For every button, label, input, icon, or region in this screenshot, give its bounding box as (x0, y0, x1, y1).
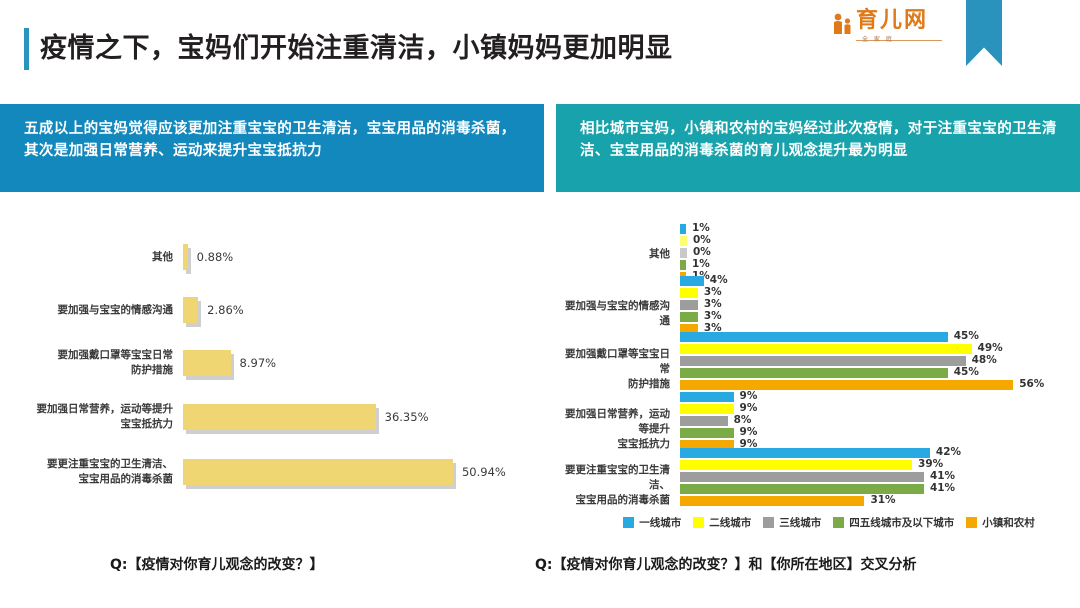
bar-value-label: 3% (704, 310, 722, 322)
category-label: 其他 (556, 247, 670, 262)
legend-swatch-icon (833, 517, 844, 528)
legend-swatch-icon (693, 517, 704, 528)
bar (680, 472, 924, 482)
category-label: 要更注重宝宝的卫生清洁、宝宝用品的消毒杀菌 (0, 457, 173, 487)
bar-value-label: 8.97% (240, 356, 277, 370)
bar (680, 248, 687, 258)
bar (680, 460, 912, 470)
bar (680, 276, 704, 286)
title-accent-bar (24, 28, 29, 70)
bar-value-label: 41% (930, 482, 955, 494)
legend-item[interactable]: 四五线城市及以下城市 (833, 515, 954, 530)
bar-value-label: 36.35% (385, 410, 429, 424)
bar-value-label: 41% (930, 470, 955, 482)
callout-right-text: 相比城市宝妈，小镇和农村的宝妈经过此次疫情，对于注重宝宝的卫生清洁、宝宝用品的消… (580, 118, 1060, 162)
bar (680, 332, 948, 342)
category-label: 要加强日常营养，运动等提升宝宝抵抗力 (556, 407, 670, 452)
legend-item[interactable]: 小镇和农村 (966, 515, 1035, 530)
bar-value-label: 1% (692, 258, 710, 270)
bar (183, 297, 198, 323)
caption-right: Q:【疫情对你育儿观念的改变？】和【你所在地区】交叉分析 (535, 554, 917, 574)
right-grouped-bar-chart: 一线城市二线城市三线城市四五线城市及以下城市小镇和农村 1%0%0%1%1%其他… (556, 212, 1080, 537)
chart-legend: 一线城市二线城市三线城市四五线城市及以下城市小镇和农村 (594, 512, 1064, 532)
legend-swatch-icon (763, 517, 774, 528)
bar-value-label: 45% (954, 366, 979, 378)
legend-label: 一线城市 (639, 515, 681, 530)
slide-header: 疫情之下，宝妈们开始注重清洁，小镇妈妈更加明显 育儿网 全 家 庭 (0, 0, 1080, 96)
logo-subtitle: 全 家 庭 (862, 34, 894, 43)
legend-label: 小镇和农村 (982, 515, 1035, 530)
panel-vertical-rule (549, 215, 550, 535)
bar (680, 368, 948, 378)
bar (183, 244, 188, 270)
bar (680, 404, 734, 414)
legend-swatch-icon (966, 517, 977, 528)
bar-value-label: 45% (954, 330, 979, 342)
left-bar-chart: 0.88%其他2.86%要加强与宝宝的情感沟通8.97%要加强戴口罩等宝宝日常防… (0, 212, 549, 537)
bar-value-label: 48% (972, 354, 997, 366)
legend-label: 四五线城市及以下城市 (849, 515, 954, 530)
bar (680, 392, 734, 402)
legend-label: 三线城市 (779, 515, 821, 530)
bar-value-label: 49% (978, 342, 1003, 354)
legend-item[interactable]: 三线城市 (763, 515, 821, 530)
bar-value-label: 42% (936, 446, 961, 458)
bar (183, 350, 231, 376)
bar (680, 356, 966, 366)
legend-item[interactable]: 一线城市 (623, 515, 681, 530)
bar-value-label: 0.88% (197, 250, 234, 264)
bar-value-label: 9% (740, 402, 758, 414)
brand-logo: 育儿网 全 家 庭 (832, 8, 952, 48)
parent-child-icon (832, 12, 854, 36)
panel-divider (549, 104, 551, 192)
callout-left-text: 五成以上的宝妈觉得应该更加注重宝宝的卫生清洁，宝宝用品的消毒杀菌，其次是加强日常… (24, 118, 524, 162)
bar-value-label: 31% (870, 494, 895, 506)
category-label: 其他 (0, 250, 173, 265)
bar (680, 236, 687, 246)
category-label: 要加强日常营养，运动等提升宝宝抵抗力 (0, 402, 173, 432)
bar (680, 416, 728, 426)
bar-value-label: 9% (740, 390, 758, 402)
bar (680, 288, 698, 298)
ribbon-bookmark-icon (966, 0, 1002, 66)
caption-left: Q:【疫情对你育儿观念的改变？】 (110, 554, 324, 574)
bar-value-label: 3% (704, 298, 722, 310)
category-label: 要加强与宝宝的情感沟通 (0, 303, 173, 318)
bar-value-label: 9% (740, 426, 758, 438)
category-label: 要加强戴口罩等宝宝日常防护措施 (0, 348, 173, 378)
category-label: 要加强戴口罩等宝宝日常防护措施 (556, 347, 670, 392)
legend-item[interactable]: 二线城市 (693, 515, 751, 530)
slide-page: 疫情之下，宝妈们开始注重清洁，小镇妈妈更加明显 育儿网 全 家 庭 五成以上的宝… (0, 0, 1080, 608)
bar-value-label: 0% (693, 234, 711, 246)
bar-value-label: 0% (693, 246, 711, 258)
bar-value-label: 4% (710, 274, 728, 286)
bar (680, 300, 698, 310)
category-label: 要更注重宝宝的卫生清洁、宝宝用品的消毒杀菌 (556, 463, 670, 508)
bar (680, 484, 924, 494)
bar (680, 224, 686, 234)
callout-left: 五成以上的宝妈觉得应该更加注重宝宝的卫生清洁，宝宝用品的消毒杀菌，其次是加强日常… (0, 104, 544, 192)
bar-value-label: 1% (692, 222, 710, 234)
bar (680, 380, 1013, 390)
bar (680, 428, 734, 438)
callout-right: 相比城市宝妈，小镇和农村的宝妈经过此次疫情，对于注重宝宝的卫生清洁、宝宝用品的消… (556, 104, 1080, 192)
legend-label: 二线城市 (709, 515, 751, 530)
bar-value-label: 39% (918, 458, 943, 470)
bar (680, 496, 864, 506)
page-title: 疫情之下，宝妈们开始注重清洁，小镇妈妈更加明显 (40, 28, 673, 70)
logo-text: 育儿网 (856, 8, 928, 34)
bar (680, 260, 686, 270)
bar (183, 459, 453, 485)
bar-value-label: 8% (734, 414, 752, 426)
bar (680, 312, 698, 322)
bar (183, 404, 376, 430)
bar-value-label: 56% (1019, 378, 1044, 390)
bar (680, 344, 972, 354)
bar (680, 448, 930, 458)
category-label: 要加强与宝宝的情感沟通 (556, 299, 670, 329)
bar-value-label: 3% (704, 286, 722, 298)
bar-value-label: 2.86% (207, 303, 244, 317)
legend-swatch-icon (623, 517, 634, 528)
bar-value-label: 50.94% (462, 465, 506, 479)
